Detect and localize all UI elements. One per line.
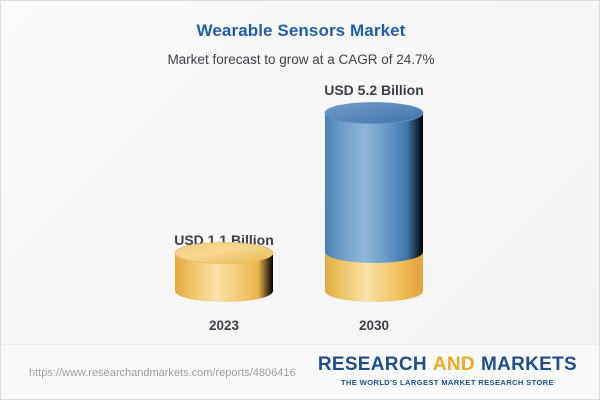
category-label-2030: 2030: [294, 318, 454, 333]
cylinder-2023-svg: [174, 242, 274, 302]
bar-value-label-2030: USD 5.2 Billion: [294, 82, 454, 98]
brand-word-markets: MARKETS: [481, 354, 577, 375]
report-url-link[interactable]: https://www.researchandmarkets.com/repor…: [29, 367, 296, 379]
brand-wordmark: RESEARCHANDMARKETS: [318, 355, 577, 374]
cylinder-2023: [174, 242, 274, 307]
infographic-canvas: Wearable Sensors Market Market forecast …: [0, 0, 600, 400]
footer-bar: https://www.researchandmarkets.com/repor…: [1, 344, 599, 399]
brand-tagline: THE WORLD'S LARGEST MARKET RESEARCH STOR…: [318, 378, 577, 387]
cylinder-2030: [324, 102, 424, 307]
brand-word-research: RESEARCH: [318, 354, 427, 375]
category-label-2023: 2023: [144, 318, 304, 333]
research-and-markets-logo: RESEARCHANDMARKETS THE WORLD'S LARGEST M…: [318, 355, 577, 387]
cylinder-2030-body: [325, 113, 423, 263]
chart-plot-area: USD 1.1 Billion: [1, 1, 600, 346]
brand-word-and: AND: [433, 354, 475, 375]
cylinder-2030-svg: [324, 102, 424, 302]
